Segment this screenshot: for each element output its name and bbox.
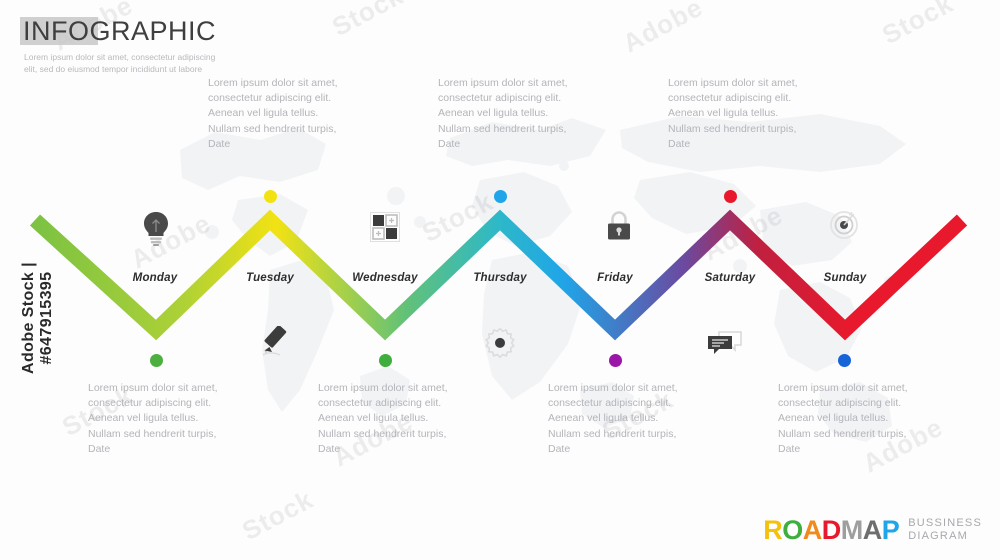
pencil-icon [256, 326, 290, 360]
gear-icon [485, 328, 515, 358]
watermark-tile: Adobe [618, 0, 708, 59]
description-text: Lorem ipsum dolor sit amet, consectetur … [548, 382, 678, 440]
description-sunday: Lorem ipsum dolor sit amet, consectetur … [778, 381, 918, 457]
chat-icon [706, 330, 744, 358]
logo-tagline-line1: BUSSINESS [908, 517, 982, 530]
description-text: Lorem ipsum dolor sit amet, consectetur … [438, 77, 568, 135]
description-text: Lorem ipsum dolor sit amet, consectetur … [778, 382, 908, 440]
watermark-tile: Stock [877, 0, 958, 51]
milestone-dot-tuesday[interactable] [264, 190, 277, 203]
milestone-dot-monday[interactable] [150, 354, 163, 367]
milestone-dot-saturday[interactable] [724, 190, 737, 203]
description-friday: Lorem ipsum dolor sit amet, consectetur … [548, 381, 688, 457]
milestone-dot-sunday[interactable] [838, 354, 851, 367]
day-label-thursday: Thursday [445, 272, 555, 284]
date-label: Date [438, 137, 578, 152]
roadmap-logo: ROADMAP BUSSINESS DIAGRAM [763, 516, 982, 544]
page-title: INFOGRAPHIC [20, 12, 216, 50]
day-label-friday: Friday [560, 272, 670, 284]
description-tuesday: Lorem ipsum dolor sit amet, consectetur … [208, 76, 348, 152]
description-text: Lorem ipsum dolor sit amet, consectetur … [668, 77, 798, 135]
day-label-wednesday: Wednesday [330, 272, 440, 284]
grid-icon [370, 212, 400, 242]
title-wrap: INFOGRAPHIC [20, 12, 216, 50]
milestone-dot-thursday[interactable] [494, 190, 507, 203]
description-monday: Lorem ipsum dolor sit amet, consectetur … [88, 381, 228, 457]
logo-letter-d: D [822, 515, 841, 545]
day-label-tuesday: Tuesday [215, 272, 325, 284]
lock-icon [605, 210, 633, 242]
logo-letter-r: R [763, 515, 782, 545]
logo-tagline-line2: DIAGRAM [908, 530, 982, 543]
description-thursday: Lorem ipsum dolor sit amet, consectetur … [438, 76, 578, 152]
logo-wordmark: ROADMAP [763, 516, 899, 544]
milestone-dot-friday[interactable] [609, 354, 622, 367]
milestone-dot-wednesday[interactable] [379, 354, 392, 367]
date-label: Date [318, 442, 458, 457]
date-label: Date [668, 137, 808, 152]
date-label: Date [548, 442, 688, 457]
lightbulb-icon [140, 210, 172, 246]
description-text: Lorem ipsum dolor sit amet, consectetur … [88, 382, 218, 440]
watermark-tile: Stock [237, 484, 318, 547]
target-icon [828, 208, 860, 240]
logo-tagline: BUSSINESS DIAGRAM [908, 517, 982, 543]
date-label: Date [208, 137, 348, 152]
logo-letter-a1: A [803, 515, 822, 545]
description-saturday: Lorem ipsum dolor sit amet, consectetur … [668, 76, 808, 152]
description-text: Lorem ipsum dolor sit amet, consectetur … [318, 382, 448, 440]
day-label-sunday: Sunday [790, 272, 900, 284]
infographic-canvas: Adobe Stock Adobe Stock Adobe Stock Adob… [0, 0, 1000, 560]
day-label-saturday: Saturday [675, 272, 785, 284]
watermark-tile: Stock [327, 0, 408, 43]
description-wednesday: Lorem ipsum dolor sit amet, consectetur … [318, 381, 458, 457]
logo-letter-a2: A [863, 515, 882, 545]
date-label: Date [778, 442, 918, 457]
logo-letter-o: O [782, 515, 803, 545]
header-subtitle: Lorem ipsum dolor sit amet, consectetur … [20, 52, 220, 75]
logo-letter-m: M [841, 515, 863, 545]
header: INFOGRAPHIC Lorem ipsum dolor sit amet, … [20, 12, 320, 75]
date-label: Date [88, 442, 228, 457]
day-label-monday: Monday [100, 272, 210, 284]
description-text: Lorem ipsum dolor sit amet, consectetur … [208, 77, 338, 135]
logo-letter-p: P [882, 515, 900, 545]
